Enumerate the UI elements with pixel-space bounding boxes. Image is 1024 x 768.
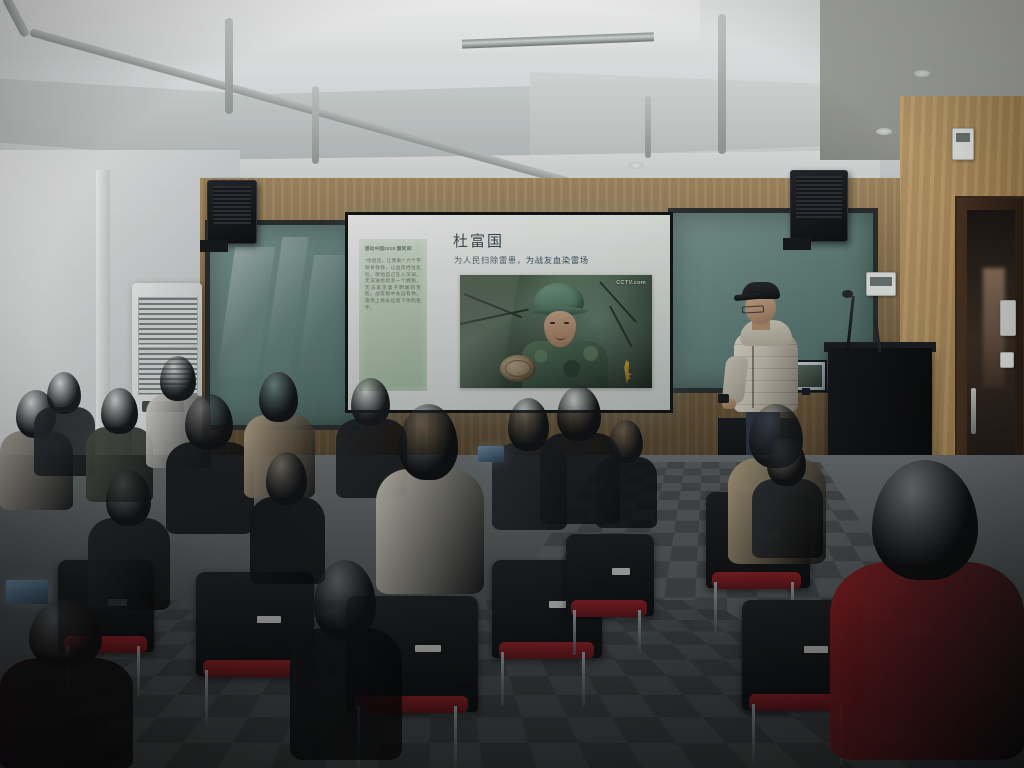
downlight-icon [876, 128, 892, 135]
speaker-bracket [783, 238, 811, 250]
wall-speaker-right [790, 170, 848, 242]
audience-torso [290, 628, 402, 760]
lecture-hall-photo: 感动中国2018 颁奖词: "你退后，让我来!" 六个字铁骨铮铮，以血肉挡住危险… [0, 0, 1024, 768]
door-handle[interactable] [971, 388, 976, 434]
audience-head [266, 452, 307, 505]
eyeglasses-icon [742, 305, 764, 313]
chair-seat-cushion [499, 642, 594, 659]
audience-head [259, 372, 298, 422]
chair-leg [501, 652, 504, 706]
photo-eye [550, 322, 555, 324]
audience-head [557, 386, 601, 441]
speaker-grill [213, 186, 251, 224]
audience-head [767, 438, 806, 486]
cctv-watermark: CCTV.com [616, 280, 646, 286]
audience-head [47, 372, 81, 414]
wall-speaker-left [207, 180, 257, 244]
audience-member [290, 560, 400, 760]
light-switch[interactable] [1000, 352, 1014, 368]
chair-leg [137, 646, 140, 697]
ceiling-pipe [718, 14, 726, 154]
landmine-ring [505, 360, 531, 377]
chair-seat-cushion [712, 572, 801, 589]
audience-member [166, 394, 252, 534]
audience-torso [752, 479, 823, 558]
audience-torso [0, 658, 133, 768]
audience-chair[interactable] [566, 534, 654, 616]
chair-leg [205, 670, 208, 727]
chair-leg [752, 704, 755, 765]
speaker-bracket [200, 240, 228, 252]
chair-seat-cushion [203, 660, 304, 677]
chair-leg [573, 610, 576, 655]
audience-head [185, 394, 233, 450]
audience-member [830, 460, 1020, 760]
audience-head [872, 460, 978, 580]
audience-member [88, 470, 168, 610]
chair-seat-cushion [571, 600, 647, 617]
chair-label-tag [415, 645, 441, 652]
chair-label-tag [612, 568, 630, 575]
presentation-clicker [718, 394, 729, 403]
audience-head [609, 420, 643, 463]
ceiling-coffer [0, 78, 230, 160]
audience-torso [88, 518, 170, 610]
audience-member [34, 372, 94, 476]
audience-head [106, 470, 151, 526]
laptop-screen[interactable] [6, 580, 48, 604]
ac-vent [138, 297, 198, 345]
controller-screen [956, 133, 970, 142]
ac-wall-controller[interactable] [866, 272, 896, 296]
microphone-head [842, 290, 853, 298]
chair-leg [582, 652, 585, 706]
ceiling-pipe [225, 18, 233, 114]
controller-screen [870, 277, 892, 286]
access-card-reader[interactable] [1000, 300, 1016, 336]
audience-torso [830, 562, 1024, 760]
chair-label-tag [804, 646, 828, 653]
jacket-zipper [752, 336, 754, 408]
chair-label-tag [257, 616, 281, 623]
ceiling-coffer [530, 72, 830, 158]
laptop-screen[interactable] [478, 446, 504, 462]
audience-head [314, 560, 376, 640]
photo-eye [564, 322, 569, 324]
ac-wall-controller-upper[interactable] [952, 128, 974, 160]
ceiling-pipe [645, 96, 651, 158]
audience-torso [596, 457, 657, 528]
audience-member [0, 600, 130, 768]
audience-torso [166, 442, 254, 534]
chair-leg [454, 706, 457, 768]
audience-head [29, 600, 102, 668]
speaker-grill [796, 176, 842, 219]
chair-leg [714, 582, 717, 635]
audience-member [752, 438, 822, 558]
audience-head [399, 404, 458, 480]
chair-leg [638, 610, 641, 655]
downlight-icon [914, 70, 930, 77]
board-reflection [298, 255, 349, 373]
audience-head [101, 388, 138, 434]
photo-landmine [500, 355, 536, 382]
audience-member [596, 420, 656, 528]
downlight-icon [628, 162, 644, 169]
ceiling-pipe [312, 86, 319, 164]
